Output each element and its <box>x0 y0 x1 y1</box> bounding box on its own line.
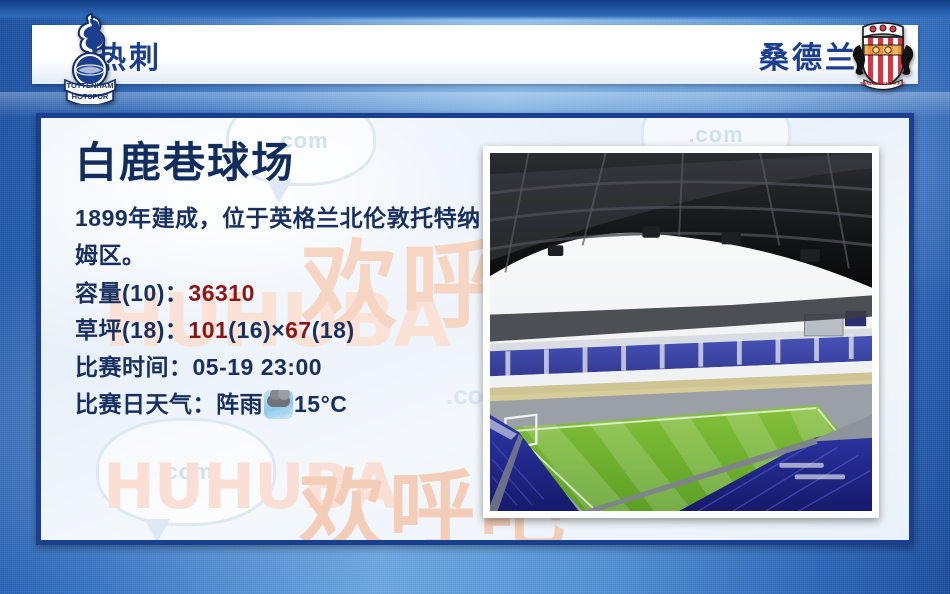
sunderland-afc-crest-icon: SUNDERLAND A.F.C. <box>846 20 920 92</box>
match-weather-row: 比赛日天气：阵雨15°C <box>75 386 495 423</box>
match-time-value: 05-19 23:00 <box>193 354 323 380</box>
pitch-length-rank: (16) <box>228 317 271 343</box>
capacity-value: 36310 <box>188 280 254 306</box>
stadium-info-panel: .com .com .com HUHUBA HUHUBA 欢呼吧 欢呼吧 .co… <box>36 113 914 545</box>
tottenham-hotspur-crest-icon: TOTTENHAM HOTSPUR <box>62 12 118 104</box>
weather-text: 阵雨 <box>216 391 263 417</box>
stadium-photo <box>490 153 872 511</box>
pitch-length: 101 <box>188 317 228 343</box>
capacity-row: 容量(10)：36310 <box>75 275 495 312</box>
svg-text:TOTTENHAM: TOTTENHAM <box>67 81 114 90</box>
svg-text:SUNDERLAND A.F.C.: SUNDERLAND A.F.C. <box>860 81 906 86</box>
match-header-bar: 热刺 桑德兰 <box>32 25 918 84</box>
pitch-row: 草坪(18)：101(16)×67(18) <box>75 312 495 349</box>
capacity-label: 容量(10)： <box>75 280 188 306</box>
weather-label: 比赛日天气： <box>75 391 216 417</box>
watermark-bubble: .com <box>96 418 276 526</box>
match-time-row: 比赛时间：05-19 23:00 <box>75 349 495 386</box>
pitch-width: 67 <box>285 317 312 343</box>
match-time-label: 比赛时间： <box>75 354 193 380</box>
watermark-domain: .com <box>158 459 213 485</box>
shower-rain-icon <box>264 390 293 419</box>
temperature-value: 15°C <box>294 391 347 417</box>
stadium-photo-frame[interactable] <box>483 146 879 518</box>
pitch-label: 草坪(18)： <box>75 317 188 343</box>
pitch-times-sign: × <box>271 317 285 343</box>
svg-text:HOTSPUR: HOTSPUR <box>72 92 109 101</box>
watermark-brand: HUHUBA <box>103 450 397 523</box>
away-team-name: 桑德兰 <box>759 33 858 77</box>
pitch-width-rank: (18) <box>312 317 355 343</box>
stadium-details: 白鹿巷球场 1899年建成，位于英格兰北伦敦托特纳姆区。 容量(10)：3631… <box>75 140 495 424</box>
stadium-description: 1899年建成，位于英格兰北伦敦托特纳姆区。 <box>75 200 495 275</box>
stadium-name: 白鹿巷球场 <box>75 140 495 186</box>
watermark-domain: .com <box>688 122 743 148</box>
